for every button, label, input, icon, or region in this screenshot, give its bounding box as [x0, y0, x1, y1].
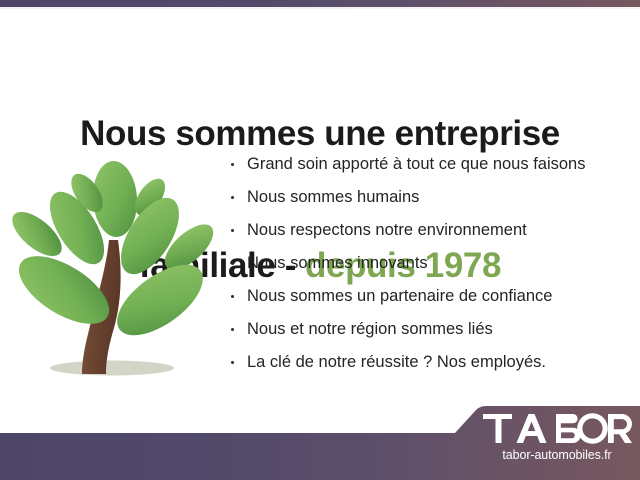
list-item: Nous sommes humains [229, 181, 629, 214]
list-item: Nous et notre région sommes liés [229, 313, 629, 346]
tabor-wordmark-icon [481, 412, 633, 445]
list-item: La clé de notre réussite ? Nos employés. [229, 346, 629, 379]
bullet-dot-icon [231, 328, 234, 331]
list-item-label: Nous et notre région sommes liés [247, 320, 493, 338]
list-item: Nous respectons notre environnement [229, 214, 629, 247]
list-item-label: Grand soin apporté à tout ce que nous fa… [247, 155, 585, 173]
list-item-label: Nous sommes un partenaire de confiance [247, 287, 552, 305]
bullet-dot-icon [231, 361, 234, 364]
list-item-label: Nous respectons notre environnement [247, 221, 527, 239]
top-accent-strip-edge [0, 7, 640, 9]
list-item: Nous sommes innovants [229, 247, 629, 280]
bullet-dot-icon [231, 163, 234, 166]
slide-canvas: Nous sommes une entreprise familiale -de… [0, 0, 640, 480]
list-item-label: Nous sommes innovants [247, 254, 428, 272]
tree-illustration [8, 152, 224, 388]
bullet-dot-icon [231, 229, 234, 232]
bullet-dot-icon [231, 196, 234, 199]
bullet-dot-icon [231, 262, 234, 265]
brand-url: tabor-automobiles.fr [481, 448, 633, 462]
brand-logo[interactable]: tabor-automobiles.fr [481, 412, 633, 462]
bullet-dot-icon [231, 295, 234, 298]
tree-shadow [50, 361, 174, 376]
list-item-label: La clé de notre réussite ? Nos employés. [247, 353, 546, 371]
benefits-list: Grand soin apporté à tout ce que nous fa… [229, 148, 629, 379]
list-item: Grand soin apporté à tout ce que nous fa… [229, 148, 629, 181]
list-item: Nous sommes un partenaire de confiance [229, 280, 629, 313]
list-item-label: Nous sommes humains [247, 188, 419, 206]
top-accent-strip [0, 0, 640, 7]
leaf [105, 251, 214, 349]
